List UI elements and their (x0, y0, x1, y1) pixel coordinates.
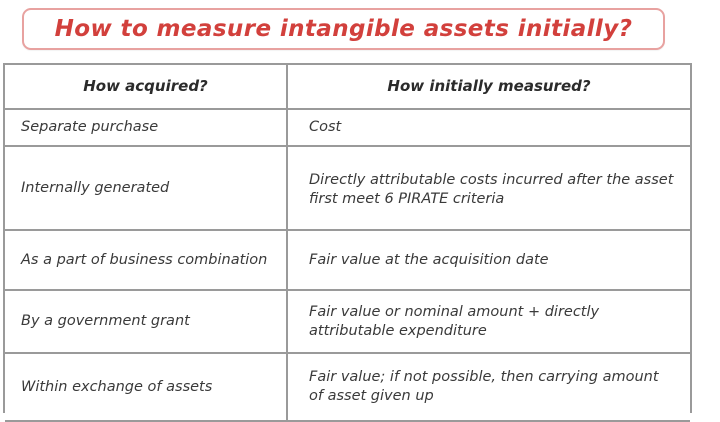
cell-measured-4-text: Fair value or nominal amount + directly … (288, 297, 690, 346)
cell-measured-4: Fair value or nominal amount + directly … (287, 290, 690, 353)
table-row: Internally generated Directly attributab… (5, 146, 690, 230)
cell-acquired-1: Separate purchase (5, 109, 287, 146)
cell-acquired-2: Internally generated (5, 146, 287, 230)
cell-acquired-3: As a part of business combination (5, 230, 287, 290)
measurement-table-container: How acquired? How initially measured? Se… (3, 63, 692, 413)
page-title: How to measure intangible assets initial… (55, 18, 633, 41)
cell-acquired-1-text: Separate purchase (5, 112, 286, 143)
cell-acquired-4: By a government grant (5, 290, 287, 353)
column-header-how-initially-measured: How initially measured? (287, 65, 690, 109)
title-banner: How to measure intangible assets initial… (22, 8, 665, 50)
cell-acquired-3-text: As a part of business combination (5, 245, 286, 276)
cell-measured-1: Cost (287, 109, 690, 146)
table-header-row: How acquired? How initially measured? (5, 65, 690, 109)
cell-measured-5-text: Fair value; if not possible, then carryi… (288, 362, 690, 411)
table-row: By a government grant Fair value or nomi… (5, 290, 690, 353)
measurement-table: How acquired? How initially measured? Se… (5, 65, 690, 422)
cell-acquired-2-text: Internally generated (5, 173, 286, 204)
column-header-how-acquired: How acquired? (5, 65, 287, 109)
column-header-how-acquired-label: How acquired? (5, 78, 286, 95)
cell-measured-2: Directly attributable costs incurred aft… (287, 146, 690, 230)
cell-measured-3-text: Fair value at the acquisition date (288, 245, 690, 276)
cell-measured-2-text: Directly attributable costs incurred aft… (288, 162, 690, 214)
cell-measured-3: Fair value at the acquisition date (287, 230, 690, 290)
cell-measured-5: Fair value; if not possible, then carryi… (287, 353, 690, 421)
cell-measured-1-text: Cost (288, 112, 690, 143)
cell-acquired-5-text: Within exchange of assets (5, 372, 286, 403)
table-row: As a part of business combination Fair v… (5, 230, 690, 290)
cell-acquired-5: Within exchange of assets (5, 353, 287, 421)
cell-acquired-4-text: By a government grant (5, 306, 286, 337)
table-row: Separate purchase Cost (5, 109, 690, 146)
table-row: Within exchange of assets Fair value; if… (5, 353, 690, 421)
column-header-how-initially-measured-label: How initially measured? (288, 78, 690, 95)
